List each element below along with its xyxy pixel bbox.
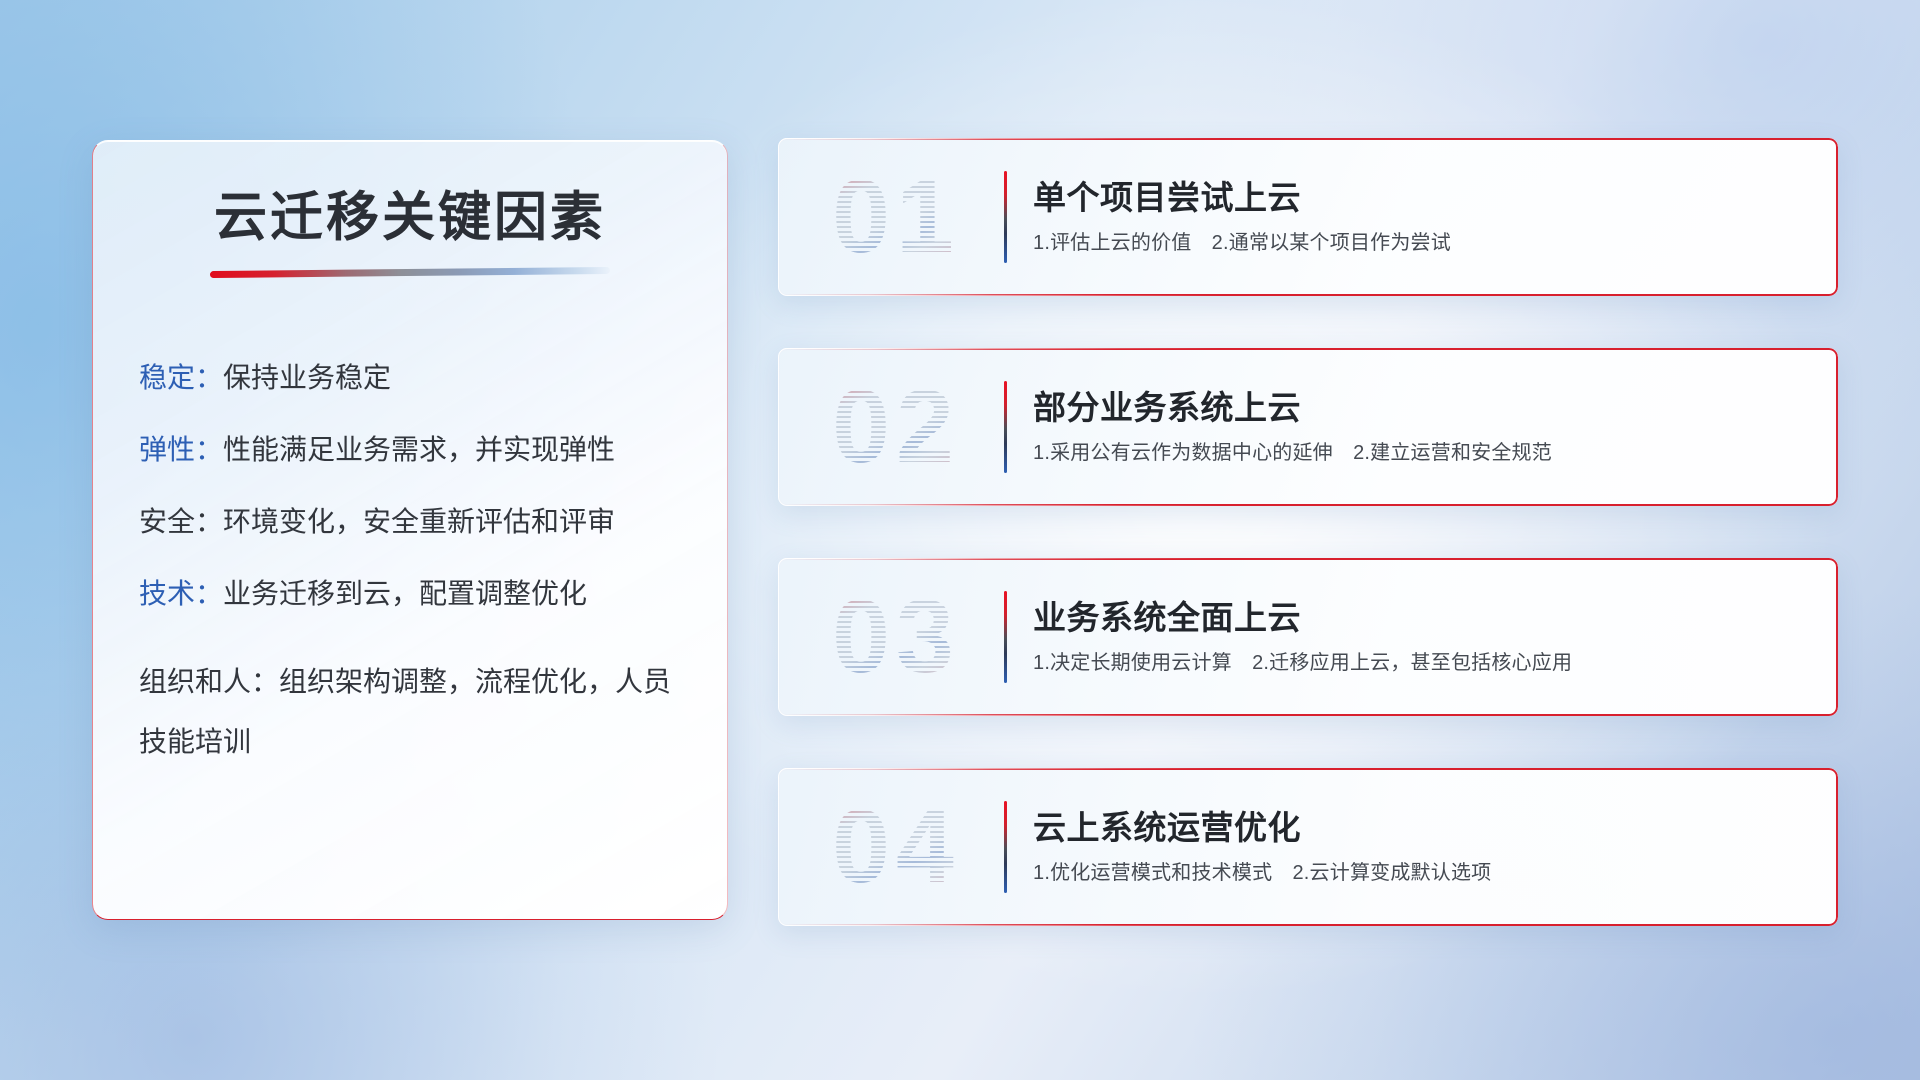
step-title: 部分业务系统上云 [1033, 389, 1838, 427]
migration-steps-list: 01 01 单个项目尝试上云 1.评估上云的价值 2.通常以某个项目作为尝试 0… [778, 138, 1838, 978]
step-number-badge: 02 02 [802, 371, 990, 483]
factor-label: 组织和人： [139, 666, 279, 697]
factor-text: 保持业务稳定 [223, 362, 391, 393]
step-card-03[interactable]: 03 03 业务系统全面上云 1.决定长期使用云计算 2.迁移应用上云，甚至包括… [778, 558, 1838, 716]
list-item: 组织和人：组织架构调整，流程优化，人员技能培训 [139, 652, 685, 772]
factor-text: 业务迁移到云，配置调整优化 [223, 578, 587, 609]
step-number-badge: 03 03 [802, 581, 990, 693]
slide-canvas: 云迁移关键因素 稳定：保持业务稳定 弹性：性能满足业务需求，并实现弹性 安全：环… [0, 0, 1920, 1080]
accent-divider [1004, 591, 1007, 683]
step-subtitle: 1.优化运营模式和技术模式 2.云计算变成默认选项 [1033, 861, 1838, 885]
key-factors-panel: 云迁移关键因素 稳定：保持业务稳定 弹性：性能满足业务需求，并实现弹性 安全：环… [92, 140, 728, 920]
step-subtitle: 1.采用公有云作为数据中心的延伸 2.建立运营和安全规范 [1033, 441, 1838, 465]
accent-divider [1004, 171, 1007, 263]
page-title: 云迁移关键因素 [93, 189, 727, 247]
step-title: 单个项目尝试上云 [1033, 179, 1838, 217]
factor-label: 技术： [139, 578, 223, 609]
step-title: 业务系统全面上云 [1033, 599, 1838, 637]
step-card-02[interactable]: 02 02 部分业务系统上云 1.采用公有云作为数据中心的延伸 2.建立运营和安… [778, 348, 1838, 506]
step-number-text: 01 [832, 159, 960, 275]
step-number-text: 04 [832, 789, 960, 905]
step-subtitle: 1.决定长期使用云计算 2.迁移应用上云，甚至包括核心应用 [1033, 651, 1838, 675]
factor-label: 稳定： [139, 362, 223, 393]
step-number-text: 02 [832, 369, 960, 485]
step-subtitle: 1.评估上云的价值 2.通常以某个项目作为尝试 [1033, 231, 1838, 255]
factor-text: 环境变化，安全重新评估和评审 [223, 506, 615, 537]
step-title: 云上系统运营优化 [1033, 809, 1838, 847]
list-item: 安全：环境变化，安全重新评估和评审 [139, 508, 685, 536]
list-item: 弹性：性能满足业务需求，并实现弹性 [139, 436, 685, 464]
list-item: 稳定：保持业务稳定 [139, 364, 685, 392]
step-number-text: 03 [832, 579, 960, 695]
step-number-badge: 04 04 [802, 791, 990, 903]
factor-label: 安全： [139, 506, 223, 537]
accent-divider [1004, 801, 1007, 893]
step-card-04[interactable]: 04 04 云上系统运营优化 1.优化运营模式和技术模式 2.云计算变成默认选项 [778, 768, 1838, 926]
step-card-01[interactable]: 01 01 单个项目尝试上云 1.评估上云的价值 2.通常以某个项目作为尝试 [778, 138, 1838, 296]
key-factors-list: 稳定：保持业务稳定 弹性：性能满足业务需求，并实现弹性 安全：环境变化，安全重新… [93, 364, 727, 772]
title-underline-accent [210, 267, 610, 278]
accent-divider [1004, 381, 1007, 473]
list-item: 技术：业务迁移到云，配置调整优化 [139, 580, 685, 608]
factor-text: 性能满足业务需求，并实现弹性 [223, 434, 615, 465]
step-number-badge: 01 01 [802, 161, 990, 273]
factor-label: 弹性： [139, 434, 223, 465]
